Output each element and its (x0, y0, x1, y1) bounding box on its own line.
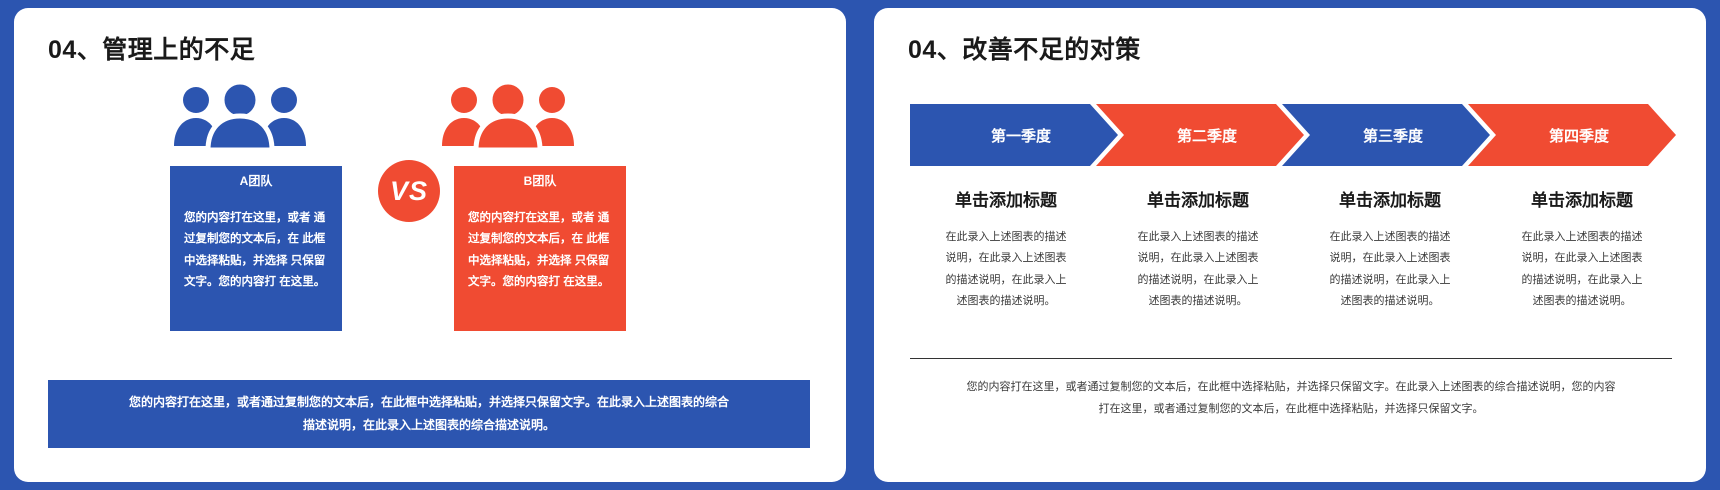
team-a-header: A团队 (170, 166, 342, 196)
page-title: 04、管理上的不足 (48, 30, 255, 66)
q1-line-3: 的描述说明，在此录入上 (924, 270, 1088, 291)
q2-line-4: 述图表的描述说明。 (1116, 291, 1280, 312)
chevron-q1-label: 第一季度 (977, 125, 1051, 146)
team-a-people-icon (166, 78, 376, 150)
q1-line-2: 说明，在此录入上述图表 (924, 248, 1088, 269)
slide-deck: 04、管理上的不足 (0, 0, 1720, 490)
q2-line-2: 说明，在此录入上述图表 (1116, 248, 1280, 269)
slide-1-footer-line-2: 描述说明，在此录入上述图表的综合描述说明。 (129, 414, 729, 437)
chevron-q4-label: 第四季度 (1535, 125, 1609, 146)
q2-line-3: 的描述说明，在此录入上 (1116, 270, 1280, 291)
slide-2-note-line-2: 打在这里，或者通过复制您的文本后，在此框中选择粘贴，并选择只保留文字。 (910, 398, 1672, 420)
quarter-column-3-title: 单击添加标题 (1308, 186, 1472, 211)
team-a-line-5: 在这里。 (279, 276, 325, 288)
chevron-q3-label: 第三季度 (1349, 125, 1423, 146)
team-b-line-1: 您的内容打在这里，或者 (468, 212, 595, 224)
chevron-q1[interactable]: 第一季度 (910, 104, 1118, 166)
team-a-line-1: 您的内容打在这里，或者 (184, 212, 311, 224)
q1-line-4: 述图表的描述说明。 (924, 291, 1088, 312)
q4-line-4: 述图表的描述说明。 (1500, 291, 1664, 312)
team-b-card: B团队 您的内容打在这里，或者 通过复制您的文本后，在 此框中选择粘贴，并选择 … (454, 166, 626, 331)
q2-line-1: 在此录入上述图表的描述 (1116, 227, 1280, 248)
quarter-detail-columns: 单击添加标题 在此录入上述图表的描述 说明，在此录入上述图表 的描述说明，在此录… (910, 186, 1678, 313)
quarter-column-2-body: 在此录入上述图表的描述 说明，在此录入上述图表 的描述说明，在此录入上 述图表的… (1116, 227, 1280, 313)
slide-2-bottom-note: 您的内容打在这里，或者通过复制您的文本后，在此框中选择粘贴，并选择只保留文字。在… (910, 376, 1672, 420)
chevron-q2[interactable]: 第二季度 (1096, 104, 1304, 166)
team-a-body: 您的内容打在这里，或者 通过复制您的文本后，在 此框中选择粘贴，并选择 只保留文… (170, 196, 342, 331)
page-title: 04、改善不足的对策 (908, 30, 1141, 66)
slide-1-footer-line-1: 您的内容打在这里，或者通过复制您的文本后，在此框中选择粘贴，并选择只保留文字。在… (129, 391, 729, 414)
q4-line-1: 在此录入上述图表的描述 (1500, 227, 1664, 248)
slide-1-canvas: 04、管理上的不足 (14, 8, 846, 482)
vs-badge: VS (378, 160, 440, 222)
team-b-body: 您的内容打在这里，或者 通过复制您的文本后，在 此框中选择粘贴，并选择 只保留文… (454, 196, 626, 331)
q3-line-2: 说明，在此录入上述图表 (1308, 248, 1472, 269)
quarter-column-1: 单击添加标题 在此录入上述图表的描述 说明，在此录入上述图表 的描述说明，在此录… (910, 186, 1102, 313)
team-b-line-5: 在这里。 (563, 276, 609, 288)
quarter-column-4-body: 在此录入上述图表的描述 说明，在此录入上述图表 的描述说明，在此录入上 述图表的… (1500, 227, 1664, 313)
team-b-header: B团队 (454, 166, 626, 196)
quarter-column-1-body: 在此录入上述图表的描述 说明，在此录入上述图表 的描述说明，在此录入上 述图表的… (924, 227, 1088, 313)
quarter-column-3: 单击添加标题 在此录入上述图表的描述 说明，在此录入上述图表 的描述说明，在此录… (1294, 186, 1486, 313)
q3-line-4: 述图表的描述说明。 (1308, 291, 1472, 312)
quarter-column-3-body: 在此录入上述图表的描述 说明，在此录入上述图表 的描述说明，在此录入上 述图表的… (1308, 227, 1472, 313)
quarter-column-2: 单击添加标题 在此录入上述图表的描述 说明，在此录入上述图表 的描述说明，在此录… (1102, 186, 1294, 313)
q4-line-3: 的描述说明，在此录入上 (1500, 270, 1664, 291)
chevron-q3[interactable]: 第三季度 (1282, 104, 1490, 166)
q4-line-2: 说明，在此录入上述图表 (1500, 248, 1664, 269)
q1-line-1: 在此录入上述图表的描述 (924, 227, 1088, 248)
slide-management-gaps: 04、管理上的不足 (0, 0, 860, 490)
q3-line-3: 的描述说明，在此录入上 (1308, 270, 1472, 291)
slide-1-footer-band: 您的内容打在这里，或者通过复制您的文本后，在此框中选择粘贴，并选择只保留文字。在… (48, 380, 810, 448)
quarter-column-2-title: 单击添加标题 (1116, 186, 1280, 211)
slide-2-note-line-1: 您的内容打在这里，或者通过复制您的文本后，在此框中选择粘贴，并选择只保留文字。在… (910, 376, 1672, 398)
team-a-card: A团队 您的内容打在这里，或者 通过复制您的文本后，在 此框中选择粘贴，并选择 … (170, 166, 342, 331)
slide-improvement-measures: 04、改善不足的对策 第一季度 第二季度 第三季度 第四季度 单击添加标题 (860, 0, 1720, 490)
chevron-q2-label: 第二季度 (1163, 125, 1237, 146)
slide-2-canvas: 04、改善不足的对策 第一季度 第二季度 第三季度 第四季度 单击添加标题 (874, 8, 1706, 482)
quarter-chevron-row: 第一季度 第二季度 第三季度 第四季度 (910, 104, 1670, 166)
quarter-column-4-title: 单击添加标题 (1500, 186, 1664, 211)
q3-line-1: 在此录入上述图表的描述 (1308, 227, 1472, 248)
section-divider (910, 358, 1672, 359)
quarter-column-4: 单击添加标题 在此录入上述图表的描述 说明，在此录入上述图表 的描述说明，在此录… (1486, 186, 1678, 313)
chevron-q4[interactable]: 第四季度 (1468, 104, 1676, 166)
quarter-column-1-title: 单击添加标题 (924, 186, 1088, 211)
team-b-people-icon (434, 78, 644, 150)
